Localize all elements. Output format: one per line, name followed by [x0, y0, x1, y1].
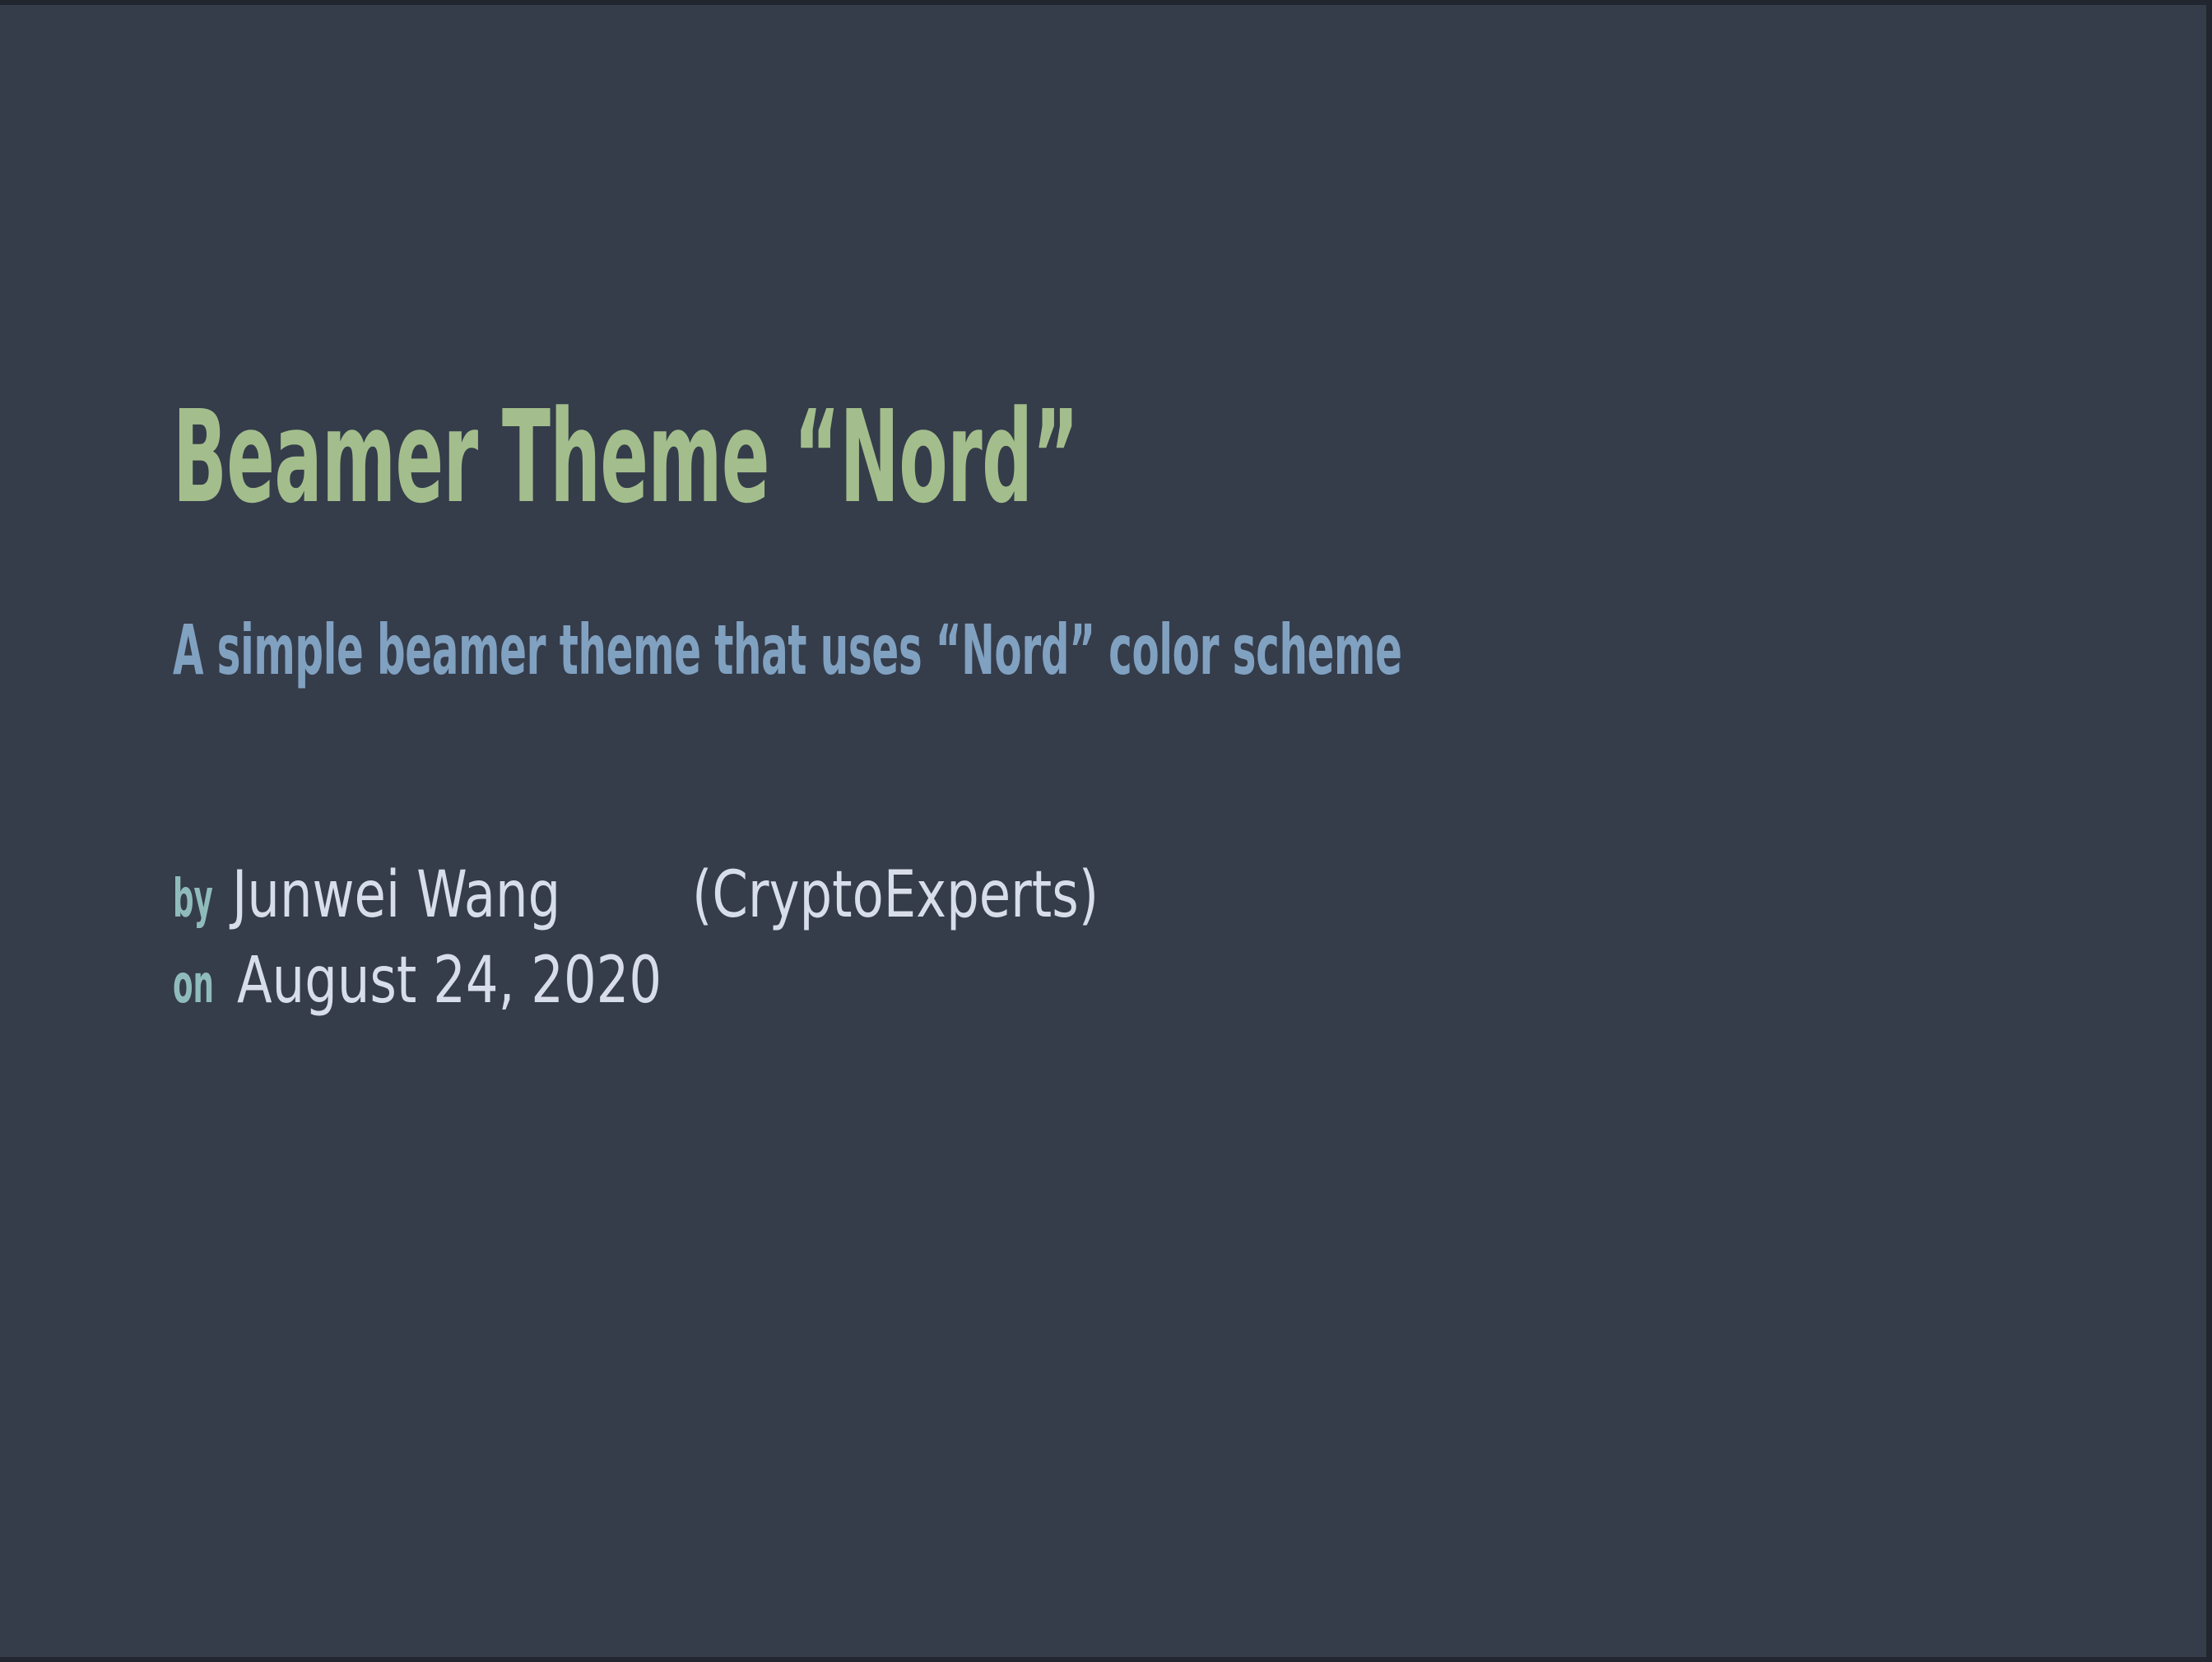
page-title: Beamer Theme “Nord”	[173, 393, 1079, 521]
author-keyword: by	[173, 857, 210, 942]
presentation-slide: Beamer Theme “Nord” A simple beamer them…	[0, 0, 2212, 1662]
subtitle-block: A simple beamer theme that uses “Nord” c…	[173, 615, 2093, 685]
page-subtitle: A simple beamer theme that uses “Nord” c…	[173, 615, 1402, 685]
date-line: onAugust 24, 2020	[173, 938, 1201, 1024]
slide-metadata: byJunwei Wang(CryptoExperts) onAugust 24…	[173, 852, 1201, 1024]
author-line: byJunwei Wang(CryptoExperts)	[173, 852, 1201, 938]
author-affiliation: (CryptoExperts)	[692, 852, 1099, 938]
date-keyword: on	[173, 942, 212, 1028]
date-value: August 24, 2020	[237, 938, 662, 1024]
title-block: Beamer Theme “Nord”	[173, 393, 1633, 521]
author-name: Junwei Wang	[232, 852, 560, 938]
slide-content: Beamer Theme “Nord” A simple beamer them…	[173, 5, 2206, 1657]
